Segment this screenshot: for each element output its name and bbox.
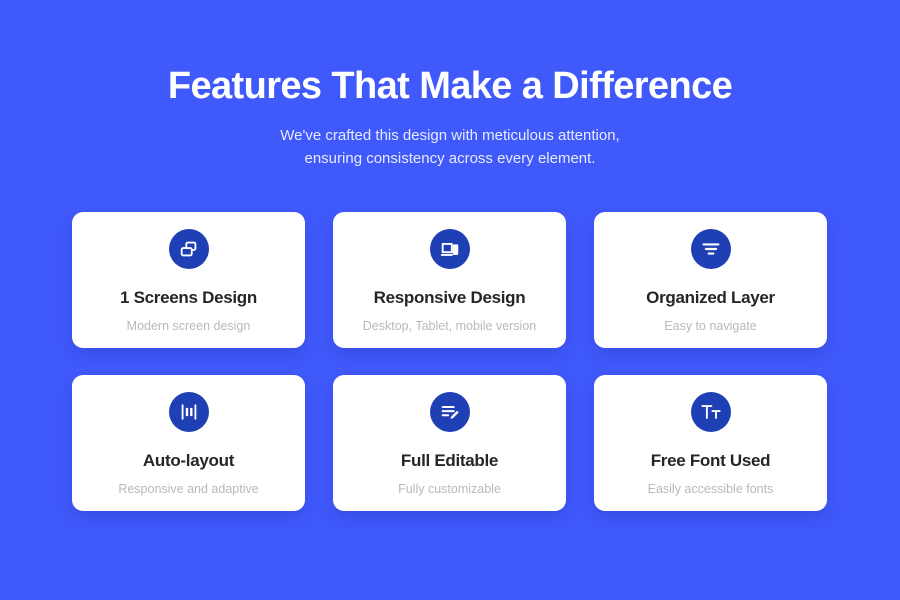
responsive-devices-icon xyxy=(430,229,470,269)
page-title: Features That Make a Difference xyxy=(0,66,900,108)
feature-card-auto-layout[interactable]: Auto-layout Responsive and adaptive xyxy=(72,375,305,511)
feature-card-responsive-design[interactable]: Responsive Design Desktop, Tablet, mobil… xyxy=(333,212,566,348)
card-description: Modern screen design xyxy=(127,319,251,334)
card-title: Auto-layout xyxy=(143,451,234,471)
card-description: Fully customizable xyxy=(398,482,501,497)
card-title: Organized Layer xyxy=(646,288,775,308)
card-title: Free Font Used xyxy=(651,451,771,471)
feature-card-full-editable[interactable]: Full Editable Fully customizable xyxy=(333,375,566,511)
feature-cards-grid: 1 Screens Design Modern screen design Re… xyxy=(72,212,828,511)
feature-card-screens-design[interactable]: 1 Screens Design Modern screen design xyxy=(72,212,305,348)
auto-layout-icon xyxy=(169,392,209,432)
section-subtitle: We've crafted this design with meticulou… xyxy=(0,124,900,171)
card-title: 1 Screens Design xyxy=(120,288,257,308)
card-description: Easily accessible fonts xyxy=(648,482,774,497)
card-description: Easy to navigate xyxy=(664,319,756,334)
section-header: Features That Make a Difference We've cr… xyxy=(0,0,900,170)
feature-card-organized-layer[interactable]: Organized Layer Easy to navigate xyxy=(594,212,827,348)
card-title: Responsive Design xyxy=(374,288,526,308)
subtitle-line-1: We've crafted this design with meticulou… xyxy=(0,124,900,147)
card-description: Responsive and adaptive xyxy=(118,482,258,497)
feature-card-free-font[interactable]: Free Font Used Easily accessible fonts xyxy=(594,375,827,511)
features-section: Features That Make a Difference We've cr… xyxy=(0,0,900,600)
windows-overlap-icon xyxy=(169,229,209,269)
card-description: Desktop, Tablet, mobile version xyxy=(363,319,536,334)
edit-pencil-lines-icon xyxy=(430,392,470,432)
subtitle-line-2: ensuring consistency across every elemen… xyxy=(0,147,900,170)
card-title: Full Editable xyxy=(401,451,498,471)
typography-icon xyxy=(691,392,731,432)
filter-layers-icon xyxy=(691,229,731,269)
